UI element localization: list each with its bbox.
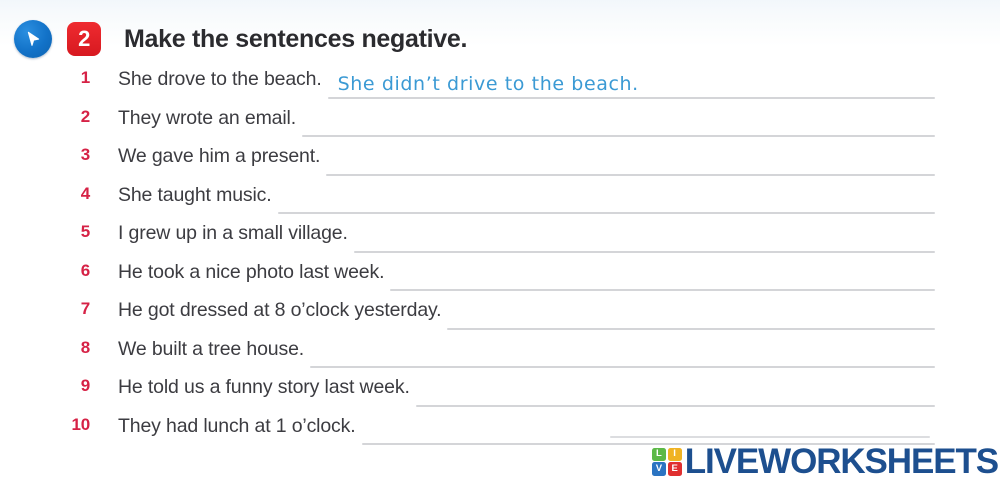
answer-input[interactable] — [384, 261, 935, 300]
item-sentence: We gave him a present. — [118, 145, 320, 168]
exercise-number-badge: 2 — [67, 22, 101, 56]
item-sentence: She drove to the beach. — [118, 68, 322, 91]
answer-underline — [278, 212, 935, 214]
item-sentence: I grew up in a small village. — [118, 222, 348, 245]
answer-underline — [302, 135, 935, 137]
answer-input[interactable] — [410, 376, 935, 415]
item-number: 6 — [56, 261, 90, 281]
answer-input[interactable]: She didn’t drive to the beach. — [322, 68, 935, 107]
item-number: 5 — [56, 222, 90, 242]
exercise-header: 2 Make the sentences negative. — [14, 18, 467, 60]
answer-underline — [328, 97, 935, 99]
worksheet-page: 2 Make the sentences negative. 1She drov… — [0, 0, 1000, 488]
item-sentence: He took a nice photo last week. — [118, 261, 384, 284]
exercise-row: 7He got dressed at 8 o’clock yesterday. — [0, 299, 1000, 338]
item-number: 9 — [56, 376, 90, 396]
exercise-row: 2They wrote an email. — [0, 107, 1000, 146]
exercise-row: 4She taught music. — [0, 184, 1000, 223]
logo-tiles-icon: L I V E — [652, 448, 682, 476]
answer-underline — [447, 328, 935, 330]
item-number: 2 — [56, 107, 90, 127]
exercise-row: 6He took a nice photo last week. — [0, 261, 1000, 300]
logo-tile-e: E — [668, 462, 682, 475]
page-title: Make the sentences negative. — [124, 25, 467, 54]
item-sentence: He told us a funny story last week. — [118, 376, 410, 399]
item-number: 8 — [56, 338, 90, 358]
answer-input[interactable] — [304, 338, 935, 377]
exercise-item-list: 1She drove to the beach.She didn’t drive… — [0, 68, 1000, 453]
item-number: 3 — [56, 145, 90, 165]
answer-input[interactable] — [348, 222, 935, 261]
answer-input[interactable] — [296, 107, 935, 146]
logo-tile-l: L — [652, 448, 666, 461]
item-number: 7 — [56, 299, 90, 319]
logo-tile-v: V — [652, 462, 666, 475]
item-sentence: They had lunch at 1 o’clock. — [118, 415, 356, 438]
answer-underline — [310, 366, 935, 368]
answer-underline — [326, 174, 935, 176]
footer-divider — [610, 436, 930, 438]
answer-underline — [354, 251, 935, 253]
answer-underline — [416, 405, 935, 407]
exercise-row: 1She drove to the beach.She didn’t drive… — [0, 68, 1000, 107]
exercise-row: 3We gave him a present. — [0, 145, 1000, 184]
answer-text: She didn’t drive to the beach. — [338, 73, 639, 95]
footer: L I V E LIVEWORKSHEETS — [0, 430, 1000, 488]
item-number: 1 — [56, 68, 90, 88]
cursor-pointer-icon — [14, 20, 52, 58]
answer-input[interactable] — [320, 145, 935, 184]
exercise-row: 5I grew up in a small village. — [0, 222, 1000, 261]
item-number: 4 — [56, 184, 90, 204]
answer-underline — [390, 289, 935, 291]
logo-wordmark: LIVEWORKSHEETS — [685, 444, 998, 479]
exercise-row: 8We built a tree house. — [0, 338, 1000, 377]
item-sentence: They wrote an email. — [118, 107, 296, 130]
exercise-row: 9He told us a funny story last week. — [0, 376, 1000, 415]
item-sentence: We built a tree house. — [118, 338, 304, 361]
answer-input[interactable] — [441, 299, 935, 338]
liveworksheets-logo: L I V E LIVEWORKSHEETS — [652, 444, 998, 479]
logo-tile-i: I — [668, 448, 682, 461]
item-sentence: He got dressed at 8 o’clock yesterday. — [118, 299, 441, 322]
item-sentence: She taught music. — [118, 184, 272, 207]
answer-input[interactable] — [272, 184, 935, 223]
